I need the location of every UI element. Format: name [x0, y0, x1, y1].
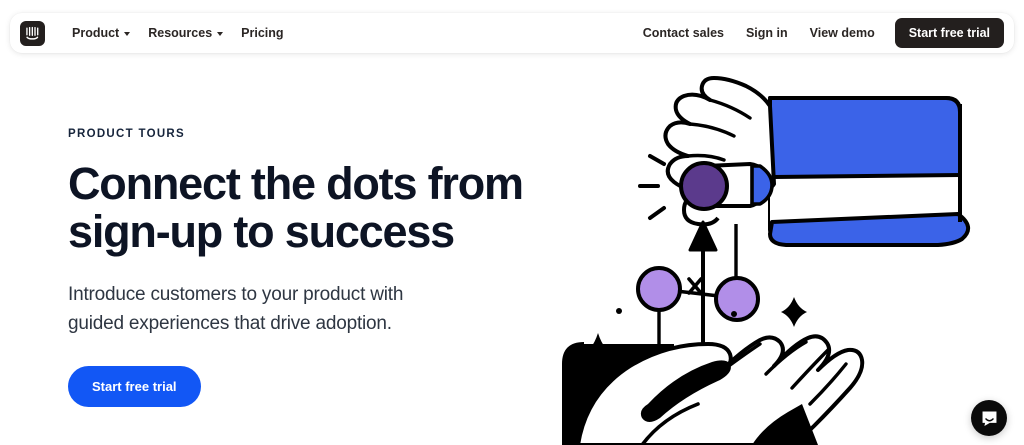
- navbar-right-group: Contact sales Sign in View demo Start fr…: [633, 18, 1004, 48]
- chevron-down-icon: [124, 32, 130, 36]
- landing-page: Product Resources Pricing Contact sales …: [0, 0, 1024, 445]
- nav-menu-product[interactable]: Product: [63, 20, 139, 46]
- intercom-chat-launcher[interactable]: [971, 400, 1007, 436]
- nav-link-view-demo[interactable]: View demo: [800, 20, 885, 46]
- subheading-line-1: Introduce customers to your product with: [68, 284, 403, 305]
- headline-line-1: Connect the dots from: [68, 158, 523, 209]
- subheading-line-2: guided experiences that drive adoption.: [68, 313, 392, 334]
- headline-line-2: sign-up to success: [68, 206, 454, 257]
- page-title: Connect the dots from sign-up to success: [68, 160, 568, 256]
- nav-link-sign-in[interactable]: Sign in: [736, 20, 798, 46]
- hero-subheading: Introduce customers to your product with…: [68, 280, 488, 338]
- nav-menu-pricing-label: Pricing: [241, 26, 283, 40]
- hands-connecting-dots-illustration: [556, 44, 1024, 445]
- hero-start-free-trial-button[interactable]: Start free trial: [68, 366, 201, 407]
- nav-link-contact-sales[interactable]: Contact sales: [633, 20, 734, 46]
- intercom-logo[interactable]: [20, 21, 45, 46]
- nav-menu-product-label: Product: [72, 26, 119, 40]
- chat-bubble-icon: [980, 409, 999, 428]
- nav-menu-pricing[interactable]: Pricing: [232, 20, 292, 46]
- navbar-left-group: Product Resources Pricing: [20, 20, 293, 46]
- nav-menu-resources-label: Resources: [148, 26, 212, 40]
- navbar-start-free-trial-button[interactable]: Start free trial: [895, 18, 1004, 48]
- chevron-down-icon: [217, 32, 223, 36]
- nav-menu-resources[interactable]: Resources: [139, 20, 232, 46]
- hero-section: PRODUCT TOURS Connect the dots from sign…: [68, 128, 568, 407]
- main-navbar: Product Resources Pricing Contact sales …: [10, 13, 1014, 53]
- hero-eyebrow: PRODUCT TOURS: [68, 128, 568, 140]
